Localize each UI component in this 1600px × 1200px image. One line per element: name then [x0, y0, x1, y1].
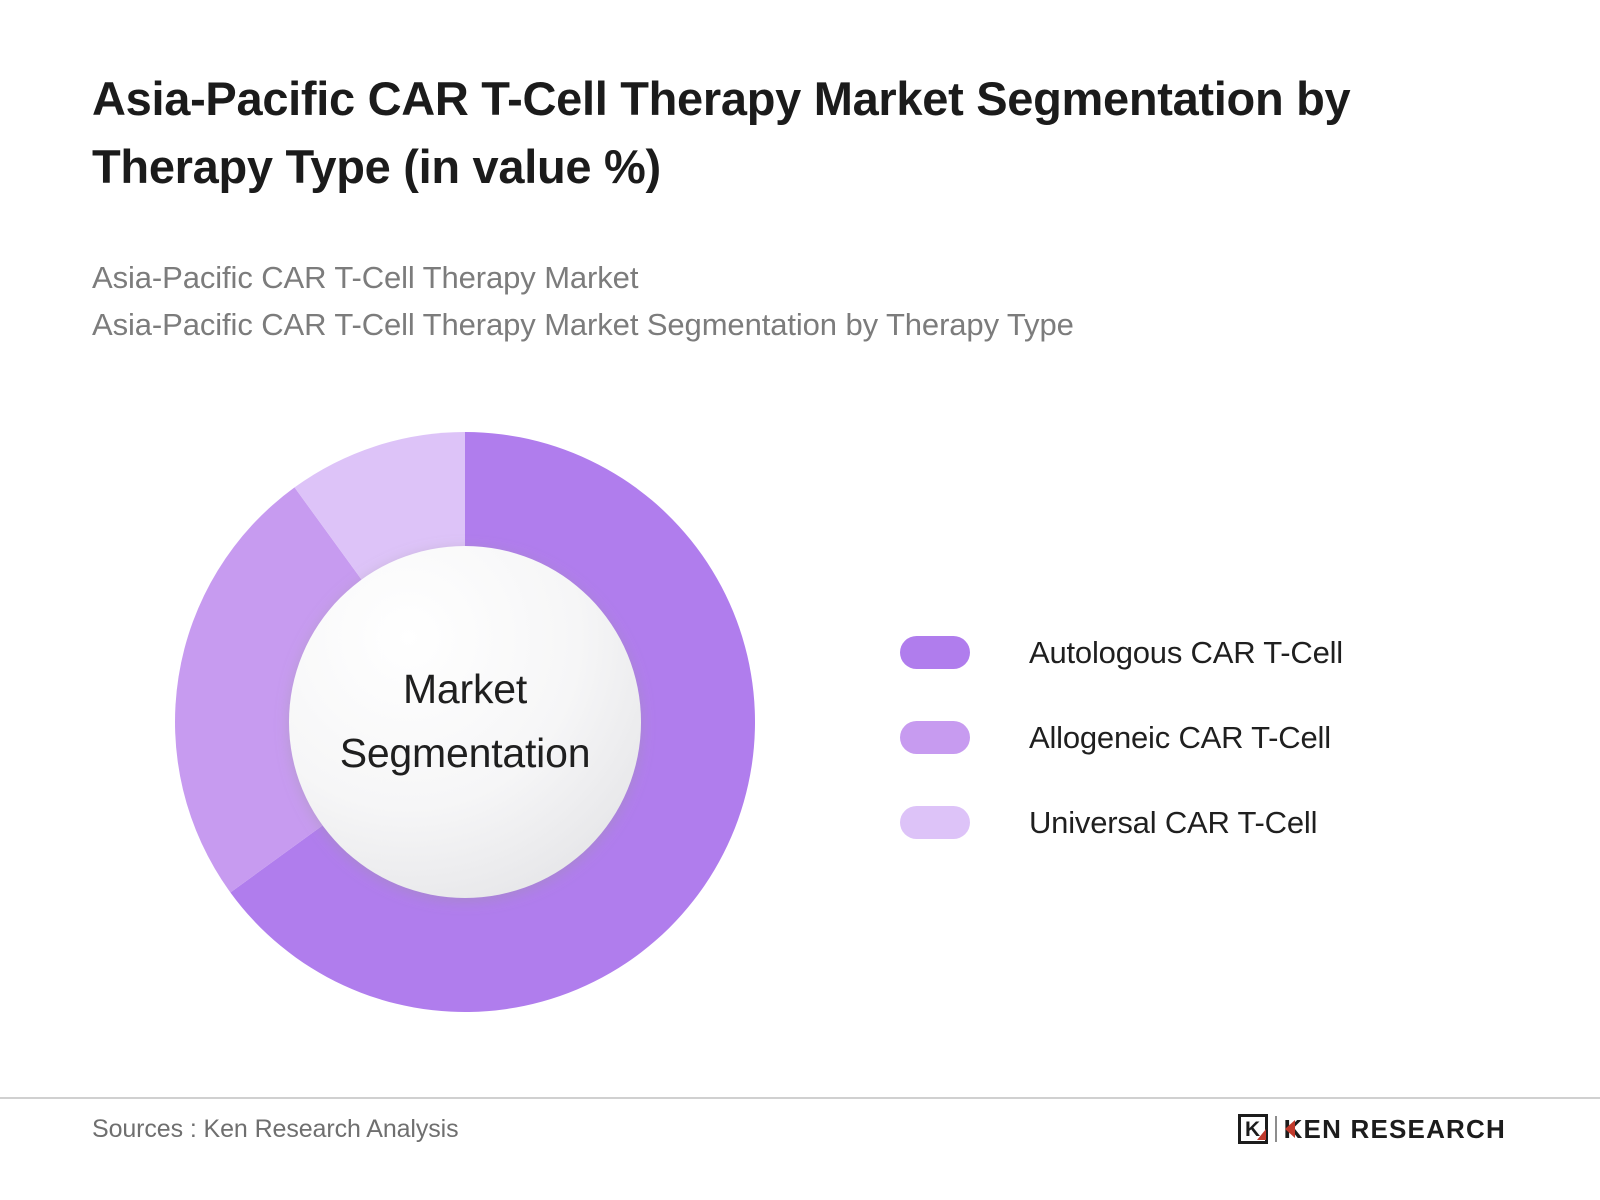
donut-center-hole	[289, 546, 641, 898]
source-note: Sources : Ken Research Analysis	[92, 1115, 459, 1144]
subtitle-line-2: Asia-Pacific CAR T-Cell Therapy Market S…	[92, 302, 1492, 349]
subtitle-block: Asia-Pacific CAR T-Cell Therapy Market A…	[92, 255, 1492, 348]
donut-chart: Market Segmentation	[175, 432, 755, 1012]
page-title: Asia-Pacific CAR T-Cell Therapy Market S…	[92, 65, 1512, 201]
legend-swatch-icon	[900, 721, 970, 754]
subtitle-line-1: Asia-Pacific CAR T-Cell Therapy Market	[92, 255, 1492, 302]
logo-k-mark-icon: K	[1238, 1114, 1268, 1144]
chart-legend: Autologous CAR T-Cell Allogeneic CAR T-C…	[900, 610, 1460, 865]
footer-divider	[0, 1097, 1600, 1099]
legend-swatch-icon	[900, 636, 970, 669]
slide-canvas: Asia-Pacific CAR T-Cell Therapy Market S…	[0, 0, 1600, 1200]
logo-wordmark-triangle-icon	[1285, 1120, 1295, 1138]
legend-item-label: Autologous CAR T-Cell	[1029, 635, 1343, 671]
logo-divider	[1275, 1116, 1277, 1142]
donut-chart-svg	[175, 432, 755, 1012]
ken-research-logo: K KEN RESEARCH	[1238, 1112, 1506, 1146]
legend-item-allogeneic[interactable]: Allogeneic CAR T-Cell	[900, 695, 1460, 780]
logo-wordmark: KEN RESEARCH	[1284, 1116, 1506, 1142]
logo-triangle-icon	[1257, 1129, 1266, 1140]
legend-item-autologous[interactable]: Autologous CAR T-Cell	[900, 610, 1460, 695]
legend-item-label: Allogeneic CAR T-Cell	[1029, 720, 1331, 756]
logo-wordmark-text: KEN RESEARCH	[1284, 1114, 1506, 1144]
legend-item-label: Universal CAR T-Cell	[1029, 805, 1317, 841]
legend-swatch-icon	[900, 806, 970, 839]
legend-item-universal[interactable]: Universal CAR T-Cell	[900, 780, 1460, 865]
